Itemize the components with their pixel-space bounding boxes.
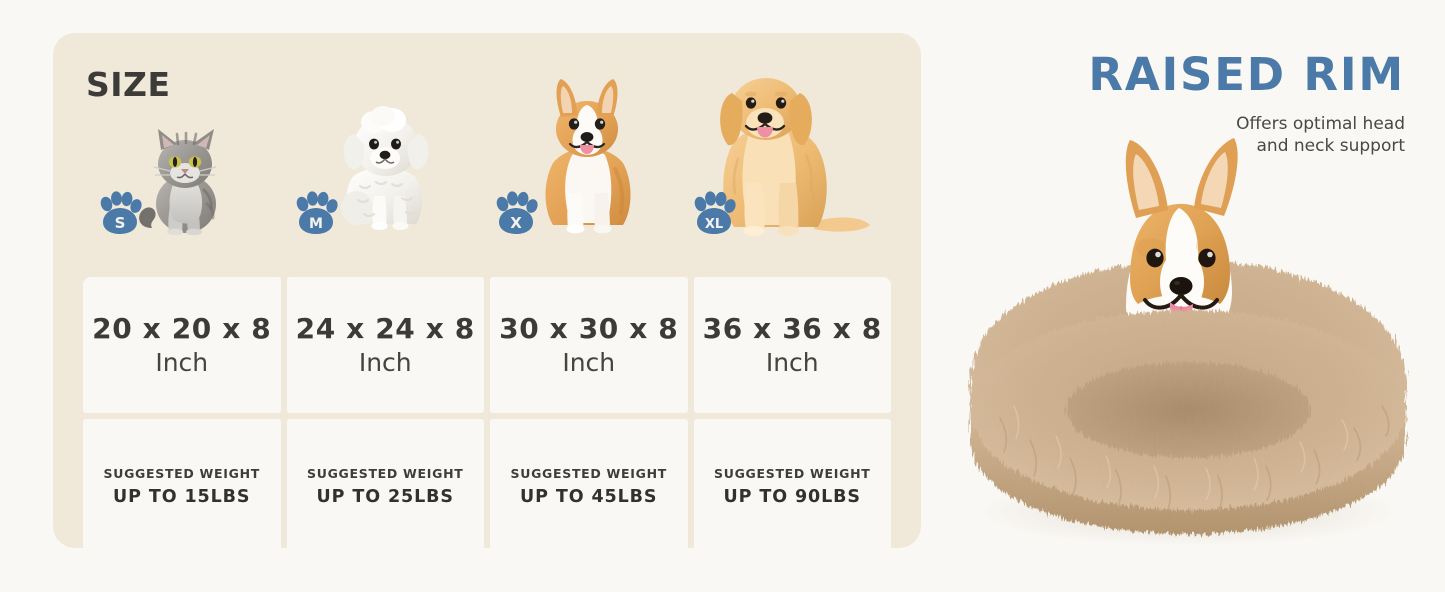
size-badge-letter: M <box>309 216 323 232</box>
weight-cell-s: SUGGESTED WEIGHT UP TO 15LBS <box>83 419 281 554</box>
dimension-value: 20 x 20 x 8 <box>92 311 271 347</box>
dimension-cell-xl: 36 x 36 x 8 Inch <box>694 277 892 413</box>
dimension-unit: Inch <box>155 347 208 379</box>
size-badge-letter: X <box>510 214 522 232</box>
weight-cell-m: SUGGESTED WEIGHT UP TO 25LBS <box>287 419 485 554</box>
dimension-cell-s: 20 x 20 x 8 Inch <box>83 277 281 413</box>
dimension-unit: Inch <box>359 347 412 379</box>
size-badge-xl: XL <box>691 190 737 236</box>
dimension-cell-x: 30 x 30 x 8 Inch <box>490 277 688 413</box>
weight-value: UP TO 15LBS <box>113 487 250 508</box>
size-column-s: S <box>83 33 285 244</box>
size-badge-letter: S <box>115 214 126 232</box>
corgi-in-donut-bed-image <box>930 110 1445 560</box>
white-maltese-dog-icon <box>330 100 442 240</box>
weight-label: SUGGESTED WEIGHT <box>104 466 260 481</box>
size-badge-s: S <box>97 190 143 236</box>
size-column-xl: XL <box>689 33 891 244</box>
dimension-value: 30 x 30 x 8 <box>499 311 678 347</box>
size-spec-grid: 20 x 20 x 8 Inch 24 x 24 x 8 Inch 30 x 3… <box>83 277 891 554</box>
dimension-unit: Inch <box>562 347 615 379</box>
weight-cell-x: SUGGESTED WEIGHT UP TO 45LBS <box>490 419 688 554</box>
dimension-value: 36 x 36 x 8 <box>703 311 882 347</box>
weight-cell-xl: SUGGESTED WEIGHT UP TO 90LBS <box>694 419 892 554</box>
size-badge-letter: XL <box>705 217 723 232</box>
size-badge-x: X <box>493 190 539 236</box>
grey-tabby-cat-icon <box>130 120 238 240</box>
size-chart-panel: SIZE <box>53 33 921 548</box>
dimension-cell-m: 24 x 24 x 8 Inch <box>287 277 485 413</box>
size-column-x: X <box>487 33 689 244</box>
weight-value: UP TO 90LBS <box>724 487 861 508</box>
dimension-unit: Inch <box>766 347 819 379</box>
size-column-m: M <box>285 33 487 244</box>
raised-rim-feature-panel: RAISED RIM Offers optimal head and neck … <box>930 0 1445 592</box>
animal-header-row: S <box>83 33 891 244</box>
dimension-value: 24 x 24 x 8 <box>296 311 475 347</box>
weight-label: SUGGESTED WEIGHT <box>714 466 870 481</box>
weight-label: SUGGESTED WEIGHT <box>511 466 667 481</box>
weight-value: UP TO 45LBS <box>520 487 657 508</box>
feature-title: RAISED RIM <box>1088 48 1405 101</box>
weight-label: SUGGESTED WEIGHT <box>307 466 463 481</box>
corgi-dog-icon <box>527 77 649 242</box>
weight-value: UP TO 25LBS <box>317 487 454 508</box>
size-badge-m: M <box>293 190 339 236</box>
